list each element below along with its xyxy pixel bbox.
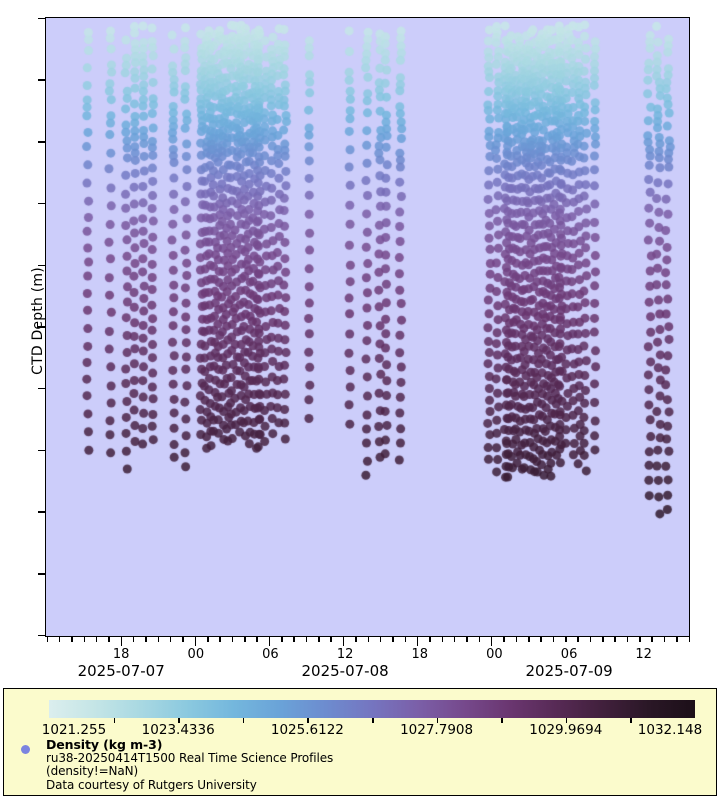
x-minor-tick	[232, 637, 234, 642]
x-tick-label: 12	[320, 647, 370, 662]
x-date-label: 2025-07-07	[21, 662, 221, 680]
x-tick-label: 00	[171, 647, 221, 662]
x-major-tick	[491, 637, 493, 646]
x-minor-tick	[442, 637, 444, 642]
x-minor-tick	[244, 637, 246, 642]
x-minor-tick	[528, 637, 530, 642]
y-tick-label: 60	[0, 367, 2, 407]
legend-dataset-id: ru38-20250414T1500 Real Time Science Pro…	[46, 752, 333, 766]
y-tick-mark	[38, 203, 45, 205]
y-axis-title: CTD Depth (m)	[30, 21, 46, 621]
x-minor-tick	[627, 637, 629, 642]
y-tick-label: 80	[0, 491, 2, 531]
x-minor-tick	[553, 637, 555, 642]
y-tick-mark	[38, 388, 45, 390]
x-minor-tick	[503, 637, 505, 642]
y-tick-label: 30	[0, 182, 2, 222]
x-minor-tick	[145, 637, 147, 642]
y-tick-mark	[38, 573, 45, 575]
x-minor-tick	[71, 637, 73, 642]
x-minor-tick	[540, 637, 542, 642]
x-major-tick	[417, 637, 419, 646]
x-minor-tick	[219, 637, 221, 642]
y-tick-label: 0	[0, 0, 2, 37]
x-minor-tick	[133, 637, 135, 642]
colorbar-tick-label: 1027.7908	[367, 722, 507, 738]
x-minor-tick	[84, 637, 86, 642]
colorbar-tick-label: 1025.6122	[237, 722, 377, 738]
x-tick-label: 18	[395, 647, 445, 662]
colorbar-gradient	[49, 700, 695, 718]
y-tick-label: 50	[0, 306, 2, 346]
y-tick-mark	[38, 265, 45, 267]
x-minor-tick	[306, 637, 308, 642]
x-minor-tick	[479, 637, 481, 642]
x-tick-label: 18	[96, 647, 146, 662]
x-minor-tick	[170, 637, 172, 642]
plot-area[interactable]	[45, 17, 690, 637]
x-date-label: 2025-07-08	[245, 662, 445, 680]
x-minor-tick	[466, 637, 468, 642]
x-minor-tick	[577, 637, 579, 642]
legend-constraint: (density!=NaN)	[46, 765, 333, 779]
x-minor-tick	[318, 637, 320, 642]
y-tick-mark	[38, 450, 45, 452]
x-minor-tick	[59, 637, 61, 642]
x-tick-label: 12	[619, 647, 669, 662]
y-tick-label: 100	[0, 614, 2, 654]
x-minor-tick	[651, 637, 653, 642]
x-minor-tick	[639, 637, 641, 642]
x-minor-tick	[380, 637, 382, 642]
legend-attribution: Data courtesy of Rutgers University	[46, 779, 333, 793]
x-minor-tick	[47, 637, 49, 642]
y-tick-label: 10	[0, 59, 2, 99]
x-minor-tick	[96, 637, 98, 642]
chart-root: CTD Depth (m) 0102030405060708090100 180…	[0, 0, 720, 800]
y-tick-mark	[38, 18, 45, 20]
x-minor-tick	[565, 637, 567, 642]
x-minor-tick	[256, 637, 258, 642]
x-date-label: 2025-07-09	[469, 662, 669, 680]
legend-marker-icon	[21, 745, 30, 754]
x-minor-tick	[429, 637, 431, 642]
x-minor-tick	[182, 637, 184, 642]
x-minor-tick	[355, 637, 357, 642]
y-tick-label: 40	[0, 244, 2, 284]
x-minor-tick	[108, 637, 110, 642]
y-tick-label: 20	[0, 120, 2, 160]
y-tick-mark	[38, 326, 45, 328]
scatter-points-layer	[46, 18, 688, 635]
x-minor-tick	[516, 637, 518, 642]
x-minor-tick	[405, 637, 407, 642]
x-minor-tick	[293, 637, 295, 642]
legend-text-block: Density (kg m-3) ru38-20250414T1500 Real…	[46, 738, 333, 792]
x-major-tick	[343, 637, 345, 646]
colorbar-tick-label: 1032.148	[600, 722, 720, 738]
colorbar-tick-label: 1023.4336	[108, 722, 248, 738]
x-minor-tick	[281, 637, 283, 642]
x-minor-tick	[614, 637, 616, 642]
x-minor-tick	[207, 637, 209, 642]
y-tick-mark	[38, 635, 45, 637]
x-minor-tick	[368, 637, 370, 642]
x-minor-tick	[330, 637, 332, 642]
legend-title: Density (kg m-3)	[46, 738, 333, 752]
x-major-tick	[269, 637, 271, 646]
x-minor-tick	[590, 637, 592, 642]
x-minor-tick	[689, 637, 691, 642]
y-tick-label: 90	[0, 552, 2, 592]
x-major-tick	[121, 637, 123, 646]
x-minor-tick	[392, 637, 394, 642]
x-minor-tick	[664, 637, 666, 642]
y-tick-label: 70	[0, 429, 2, 469]
y-tick-mark	[38, 79, 45, 81]
y-tick-mark	[38, 141, 45, 143]
x-tick-label: 06	[544, 647, 594, 662]
x-minor-tick	[602, 637, 604, 642]
legend-panel: 1021.2551023.43361025.61221027.79081029.…	[3, 688, 717, 796]
x-tick-label: 00	[469, 647, 519, 662]
x-minor-tick	[158, 637, 160, 642]
x-tick-label: 06	[245, 647, 295, 662]
x-minor-tick	[676, 637, 678, 642]
x-major-tick	[195, 637, 197, 646]
x-minor-tick	[454, 637, 456, 642]
y-tick-mark	[38, 511, 45, 513]
